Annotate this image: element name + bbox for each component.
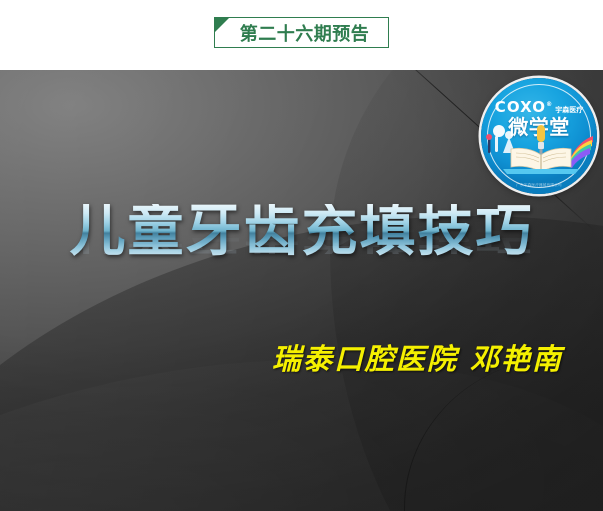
page-title: 儿童牙齿充填技巧 (0, 204, 603, 260)
presenter-credit: 瑞泰口腔医院 邓艳南 (0, 336, 603, 378)
slide-title-block: 儿童牙齿充填技巧 儿童牙齿充填技巧 (0, 204, 603, 310)
top-banner-strip: 第二十六期预告 (0, 0, 603, 70)
announcement-badge-label: 第二十六期预告 (215, 18, 388, 47)
open-book-illustration (483, 123, 595, 180)
microphone-icon (537, 125, 545, 154)
background-curve-line-decoration (404, 358, 603, 511)
presentation-slide: 第二十六期预告 COXO®宇森医疗 微学堂 (0, 0, 603, 511)
background-light-curve-decoration (0, 287, 603, 511)
logo-brand-name: COXO (495, 98, 546, 116)
logo-brand-row: COXO®宇森医疗 (481, 100, 597, 115)
logo-disc: COXO®宇森医疗 微学堂 (481, 78, 597, 194)
logo-brand-name-cn: 宇森医疗 (555, 106, 583, 114)
announcement-badge[interactable]: 第二十六期预告 (214, 17, 389, 48)
ribbon-burst-icon (568, 136, 593, 168)
slide-canvas: COXO®宇森医疗 微学堂 (0, 70, 603, 511)
registered-mark-icon: ® (546, 101, 553, 108)
logo-footer-text: 广东宇森医疗器械有限公司 (481, 183, 597, 188)
coxo-weixuetang-logo: COXO®宇森医疗 微学堂 (481, 78, 597, 194)
